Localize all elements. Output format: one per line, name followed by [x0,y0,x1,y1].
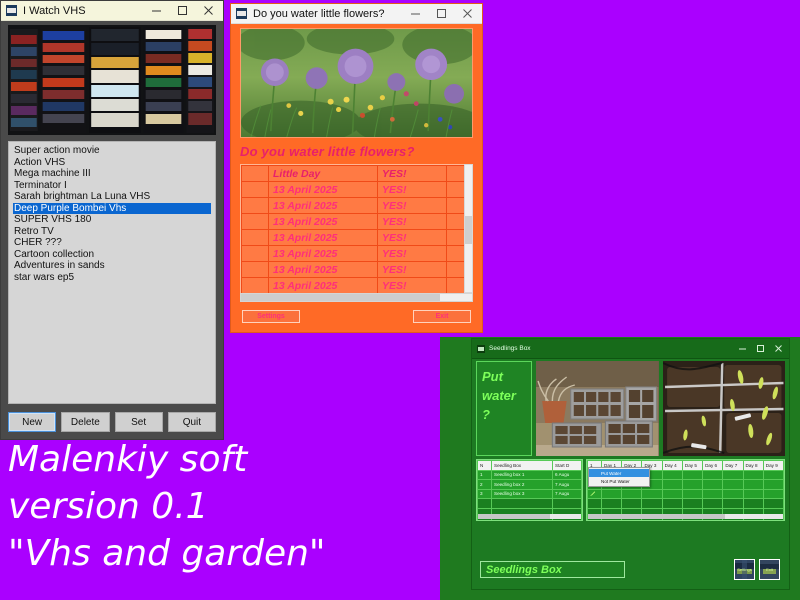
table-row[interactable] [588,499,784,509]
days-grid-horizontal-scrollbar[interactable] [588,514,783,519]
header-n: N [478,461,492,471]
exit-button-label: Exit [760,567,779,572]
seedlings-name-input[interactable]: Seedlings Box [480,561,625,578]
header-day-4: Day 4 [662,461,682,471]
quit-button[interactable]: Quit [168,412,216,432]
cell-yes: YES! [378,214,447,230]
list-item[interactable]: Sarah brightman La Luna VHS [13,191,211,203]
cell-n: 1 [478,470,492,480]
cell-n [242,214,269,230]
table-row[interactable]: 3Seedling box 37 Augu [478,489,582,499]
cell-name: Seedling box 3 [492,489,553,499]
list-item[interactable]: CHER ??? [13,237,211,249]
app-icon [236,8,247,19]
cell-name: Seedling box 2 [492,480,553,490]
header-day-9: Day 9 [763,461,783,471]
cell-day-4[interactable] [662,499,682,509]
seed-trays-photo-left-art [536,361,659,456]
seed-trays-photo-left [536,361,659,456]
cell-n [242,182,269,198]
branding-tagline: Malenkiy soft version 0.1 "Vhs and garde… [8,436,428,577]
cell-day-7[interactable] [723,470,743,480]
vhs-shelf-photo [8,25,216,135]
cell-day-5[interactable] [682,489,702,499]
cell-day-9[interactable] [763,470,783,480]
exit-button[interactable]: Exit [759,559,780,580]
app-icon [6,5,17,16]
close-icon[interactable] [769,342,787,355]
cell-n [242,278,269,294]
header-little-day: Little Day [269,166,378,182]
list-item[interactable]: Retro TV [13,226,211,238]
vhs-window-title: I Watch VHS [23,5,143,17]
context-menu[interactable]: Put Water Not Put Water [588,467,650,487]
list-item[interactable]: Adventures in sands [13,260,211,272]
vhs-shelf-photo-art [8,25,216,135]
close-icon[interactable] [454,4,480,23]
header-day-8: Day 8 [743,461,763,471]
table-row[interactable]: 13 April 2025YES! [242,198,474,214]
vhs-tape-list[interactable]: Super action movie Action VHS Mega machi… [8,141,216,404]
seedling-box-table-horizontal-scrollbar[interactable] [478,514,581,519]
vhs-titlebar[interactable]: I Watch VHS [1,1,223,21]
exit-button[interactable]: Exit [413,310,471,323]
new-button[interactable]: New [8,412,56,432]
maximize-icon[interactable] [169,1,195,20]
maximize-icon[interactable] [428,4,454,23]
seedlings-window-title: Seedlings Box [489,345,733,352]
cell-day: 13 April 2025 [269,214,378,230]
cell-n [242,230,269,246]
cell-day-6[interactable] [703,489,723,499]
cell-day-9[interactable] [763,489,783,499]
list-item[interactable]: Terminator I [13,180,211,192]
close-icon[interactable] [195,1,221,20]
seed-sprouts-photo-right [663,361,786,456]
table-row[interactable]: 2Seedling box 27 Augu [478,480,582,490]
cell-day-0[interactable] [588,489,602,499]
header-day-7: Day 7 [723,461,743,471]
settings-button-label: Settings [735,567,754,572]
seed-sprouts-photo-right-art [663,361,786,456]
list-item[interactable]: Action VHS [13,157,211,169]
header-seedling-box: Seedling Box [492,461,553,471]
cell-yes: YES! [378,182,447,198]
cell-name [492,499,553,509]
cell-day: 13 April 2025 [269,182,378,198]
table-row[interactable]: 1Seedling box 16 Augu [478,470,582,480]
delete-button[interactable]: Delete [61,412,109,432]
flowers-garden-photo-art [241,29,472,137]
list-item[interactable]: star wars ep5 [13,272,211,284]
header-day-5: Day 5 [682,461,702,471]
vhs-button-bar: New Delete Set Quit [8,412,216,432]
header-start-date: Start D [553,461,582,471]
cell-start-date [553,499,582,509]
put-water-prompt: Put water ? [476,361,532,456]
minimize-icon[interactable] [402,4,428,23]
set-button[interactable]: Set [115,412,163,432]
cell-yes: YES! [378,230,447,246]
header-day-6: Day 6 [703,461,723,471]
flowers-button-bar: Settings Exit [240,310,473,323]
flowers-garden-photo [240,28,473,138]
cell-day-5[interactable] [682,470,702,480]
table-header-row: Little Day YES! [242,166,474,182]
table-row[interactable] [588,489,784,499]
cell-day: 13 April 2025 [269,278,378,294]
cell-day-8[interactable] [743,470,763,480]
cell-yes: YES! [378,278,447,294]
scrollbar-thumb[interactable] [465,216,472,244]
context-menu-item-put-water[interactable]: Put Water [589,469,649,477]
list-item[interactable]: Cartoon collection [13,249,211,261]
cell-day-2[interactable] [622,489,642,499]
table-row[interactable]: 13 April 2025YES! [242,278,474,294]
table-row[interactable]: 13 April 2025YES! [242,214,474,230]
cell-day-6[interactable] [703,470,723,480]
cell-day: 13 April 2025 [269,246,378,262]
seedlings-titlebar[interactable]: Seedlings Box [472,339,789,359]
cell-day-3[interactable] [642,489,662,499]
vhs-body: Super action movie Action VHS Mega machi… [8,25,216,432]
settings-button[interactable]: Settings [734,559,755,580]
cell-n: 3 [478,489,492,499]
cell-n [242,198,269,214]
cell-day-9[interactable] [763,499,783,509]
flowers-body: Do you water little flowers? Little Day … [240,28,473,328]
cell-n: 2 [478,480,492,490]
cell-yes: YES! [378,262,447,278]
flowers-titlebar[interactable]: Do you water little flowers? [231,4,482,24]
cell-day-6[interactable] [703,499,723,509]
header-yes: YES! [378,166,447,182]
scrollbar-thumb[interactable] [478,514,550,519]
app-icon [477,345,485,353]
cell-day-6[interactable] [703,480,723,490]
cell-start-date: 6 Augu [553,470,582,480]
cell-day-4[interactable] [662,480,682,490]
flowers-watering-table[interactable]: Little Day YES! 13 April 2025YES!13 Apri… [240,164,473,298]
context-menu-item-not-put-water[interactable]: Not Put Water [589,477,649,485]
seedlings-bottom-bar: Seedlings Box Settings Exit [480,559,781,581]
cell-day-7[interactable] [723,499,743,509]
cell-start-date: 7 Augu [553,480,582,490]
cell-yes: YES! [378,246,447,262]
flowers-table-vertical-scrollbar[interactable] [464,164,473,293]
cell-day-4[interactable] [662,489,682,499]
minimize-icon[interactable] [733,342,751,355]
settings-button[interactable]: Settings [242,310,300,323]
seedlings-titlebar-buttons [733,342,787,355]
cell-day-7[interactable] [723,480,743,490]
scrollbar-thumb[interactable] [588,514,725,519]
window-water-little-flowers[interactable]: Do you water little flowers? [230,3,483,333]
cell-yes: YES! [378,198,447,214]
table-row[interactable]: 13 April 2025YES! [242,262,474,278]
flowers-table: Little Day YES! 13 April 2025YES!13 Apri… [241,165,473,298]
window-seedlings-box[interactable]: Seedlings Box Put water ? [471,338,790,590]
seedling-box-table[interactable]: N Seedling Box Start D 1Seedling box 16 … [476,459,583,521]
cell-day-5[interactable] [682,480,702,490]
cell-day-9[interactable] [763,480,783,490]
cell-n [242,246,269,262]
pencil-icon [590,490,596,496]
cell-day-5[interactable] [682,499,702,509]
vhs-titlebar-buttons [143,1,221,20]
list-item[interactable]: SUPER VHS 180 [13,214,211,226]
seedlings-top-row: Put water ? [476,361,785,456]
cell-start-date: 7 Augu [553,489,582,499]
list-item[interactable]: Mega machine III [13,168,211,180]
table-header-row: N Seedling Box Start D [478,461,582,471]
cell-n [242,262,269,278]
table-row[interactable]: 13 April 2025YES! [242,182,474,198]
window-i-watch-vhs[interactable]: I Watch VHS [0,0,224,440]
cell-day-3[interactable] [642,499,662,509]
list-item-selected[interactable]: Deep Purple Bombei Vhs [13,203,211,215]
cell-day: 13 April 2025 [269,262,378,278]
seedling-box-grid: N Seedling Box Start D 1Seedling box 16 … [477,460,582,521]
cell-day-1[interactable] [602,499,622,509]
cell-day-0[interactable] [588,499,602,509]
cell-name: Seedling box 1 [492,470,553,480]
scrollbar-thumb[interactable] [241,294,440,301]
table-row[interactable]: 13 April 2025YES! [242,246,474,262]
maximize-icon[interactable] [751,342,769,355]
flowers-window-title: Do you water little flowers? [253,8,402,20]
cell-day-7[interactable] [723,489,743,499]
flowers-caption: Do you water little flowers? [240,144,473,159]
cell-day-1[interactable] [602,489,622,499]
minimize-icon[interactable] [143,1,169,20]
cell-n [478,499,492,509]
header-n [242,166,269,182]
flowers-table-horizontal-scrollbar[interactable] [240,293,473,302]
cell-day-8[interactable] [743,489,763,499]
list-item[interactable]: Super action movie [13,145,211,157]
table-row[interactable] [478,499,582,509]
cell-day-4[interactable] [662,470,682,480]
flowers-table-body: 13 April 2025YES!13 April 2025YES!13 Apr… [242,182,474,299]
flowers-titlebar-buttons [402,4,480,23]
cell-day-8[interactable] [743,499,763,509]
cell-day: 13 April 2025 [269,230,378,246]
cell-day-8[interactable] [743,480,763,490]
table-row[interactable]: 13 April 2025YES! [242,230,474,246]
cell-day: 13 April 2025 [269,198,378,214]
cell-day-2[interactable] [622,499,642,509]
